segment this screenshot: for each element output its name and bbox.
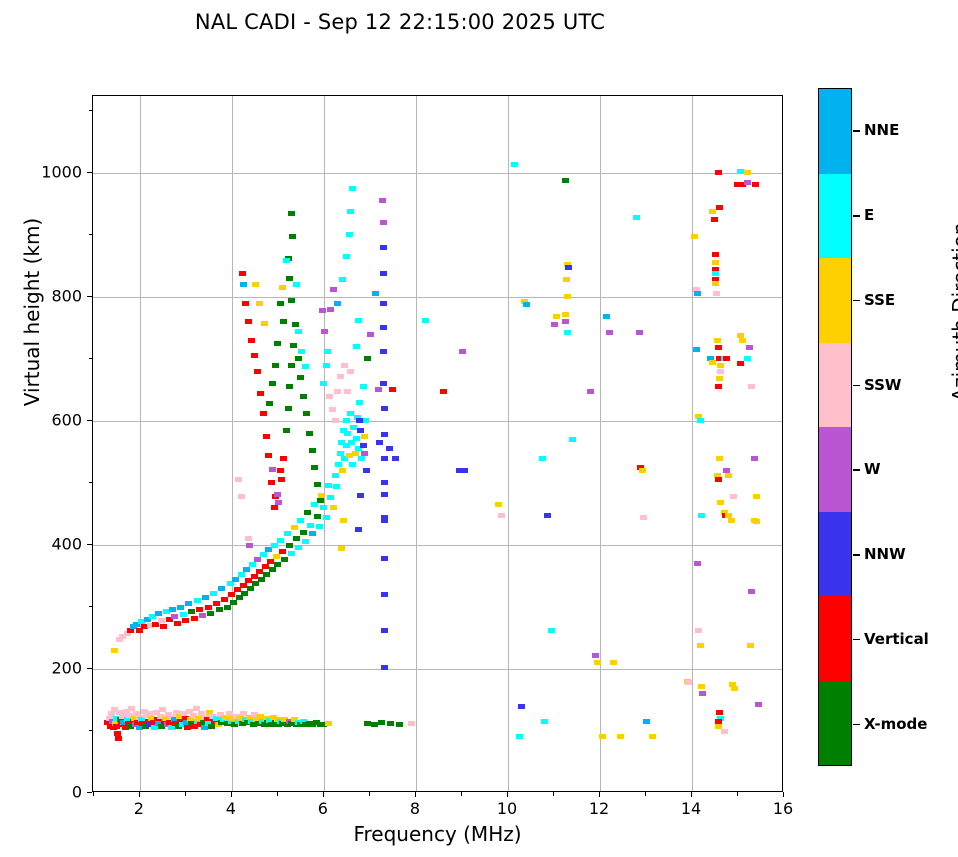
echo-point xyxy=(544,513,551,518)
echo-point xyxy=(562,319,569,324)
x-tick xyxy=(139,792,140,797)
echo-point xyxy=(730,494,737,499)
echo-point xyxy=(224,605,231,610)
echo-point xyxy=(716,376,723,381)
colorbar-label-sse: SSE xyxy=(864,291,895,309)
echo-point xyxy=(357,493,364,498)
echo-point xyxy=(266,401,273,406)
echo-point xyxy=(344,389,351,394)
echo-point xyxy=(252,581,259,586)
y-minor-tick xyxy=(89,110,93,111)
echo-point xyxy=(346,232,353,237)
x-tick xyxy=(783,792,784,797)
echo-point xyxy=(709,209,716,214)
echo-point xyxy=(721,729,728,734)
colorbar-segment-nne xyxy=(819,89,851,174)
echo-point xyxy=(380,271,387,276)
echo-point xyxy=(337,374,344,379)
colorbar-label-x-mode: X-mode xyxy=(864,715,927,733)
echo-point xyxy=(323,515,330,520)
y-tick xyxy=(87,792,92,793)
echo-point xyxy=(715,477,722,482)
echo-point xyxy=(111,648,118,653)
colorbar-segment-e xyxy=(819,174,851,259)
echo-point xyxy=(511,162,518,167)
echo-point xyxy=(260,552,267,557)
echo-point xyxy=(381,456,388,461)
echo-point xyxy=(698,513,705,518)
echo-point xyxy=(274,562,281,567)
echo-point xyxy=(205,605,212,610)
echo-point xyxy=(316,524,323,529)
colorbar-tick xyxy=(853,385,860,387)
echo-point xyxy=(329,407,336,412)
echo-point xyxy=(516,734,523,739)
echo-point xyxy=(210,591,217,596)
x-tick xyxy=(415,792,416,797)
echo-point xyxy=(408,721,415,726)
echo-point xyxy=(697,418,704,423)
echo-point xyxy=(539,456,546,461)
echo-point xyxy=(356,400,363,405)
echo-point xyxy=(216,607,223,612)
y-minor-tick xyxy=(89,730,93,731)
echo-point xyxy=(747,643,754,648)
echo-point xyxy=(268,480,275,485)
echo-point xyxy=(729,682,736,687)
echo-point xyxy=(335,462,342,467)
echo-point xyxy=(218,586,225,591)
echo-point xyxy=(269,567,276,572)
echo-point xyxy=(254,557,261,562)
echo-point xyxy=(347,369,354,374)
y-tick-label: 200 xyxy=(0,659,82,678)
echo-point xyxy=(495,502,502,507)
echo-point xyxy=(295,329,302,334)
y-axis-title: Virtual height (km) xyxy=(20,162,44,462)
echo-point xyxy=(715,345,722,350)
echo-point xyxy=(274,492,281,497)
echo-point xyxy=(389,387,396,392)
x-tick-label: 2 xyxy=(109,799,169,818)
echo-point xyxy=(240,282,247,287)
echo-point xyxy=(715,170,722,175)
echo-point xyxy=(693,347,700,352)
echo-point xyxy=(753,519,760,524)
echo-point xyxy=(357,428,364,433)
echo-point xyxy=(251,574,258,579)
echo-point xyxy=(381,628,388,633)
echo-point xyxy=(381,432,388,437)
x-minor-tick xyxy=(553,792,554,796)
echo-point xyxy=(207,611,214,616)
echo-point xyxy=(380,381,387,386)
echo-point xyxy=(325,721,332,726)
colorbar-label-w: W xyxy=(864,460,881,478)
echo-point xyxy=(213,601,220,606)
echo-point xyxy=(344,431,351,436)
echo-point xyxy=(753,494,760,499)
echo-point xyxy=(358,456,365,461)
echo-point xyxy=(364,356,371,361)
echo-point xyxy=(327,307,334,312)
echo-point xyxy=(319,308,326,313)
echo-point xyxy=(295,545,302,550)
echo-point xyxy=(271,543,278,548)
echo-point xyxy=(380,220,387,225)
echo-point xyxy=(355,318,362,323)
echo-point xyxy=(236,595,243,600)
echo-point xyxy=(291,525,298,530)
echo-point xyxy=(347,209,354,214)
echo-point xyxy=(158,618,165,623)
x-minor-tick xyxy=(277,792,278,796)
echo-point xyxy=(375,387,382,392)
echo-point xyxy=(594,660,601,665)
colorbar-tick xyxy=(853,639,860,641)
echo-point xyxy=(694,291,701,296)
colorbar xyxy=(818,88,852,766)
echo-point xyxy=(115,736,122,741)
echo-point xyxy=(243,567,250,572)
echo-point xyxy=(332,473,339,478)
echo-point xyxy=(712,260,719,265)
echo-point xyxy=(199,613,206,618)
echo-point xyxy=(713,291,720,296)
echo-point xyxy=(284,531,291,536)
colorbar-segment-vertical xyxy=(819,596,851,681)
echo-point xyxy=(249,562,256,567)
y-tick-label: 400 xyxy=(0,535,82,554)
echo-point xyxy=(263,434,270,439)
echo-point xyxy=(227,581,234,586)
x-minor-tick xyxy=(93,792,94,796)
echo-point xyxy=(238,572,245,577)
x-minor-tick xyxy=(737,792,738,796)
echo-point xyxy=(392,456,399,461)
echo-point xyxy=(381,492,388,497)
y-tick xyxy=(87,296,92,297)
x-tick-label: 12 xyxy=(569,799,629,818)
echo-point xyxy=(714,338,721,343)
echo-point xyxy=(160,624,167,629)
echo-point xyxy=(311,465,318,470)
echo-point xyxy=(286,276,293,281)
echo-point xyxy=(262,564,269,569)
echo-point xyxy=(380,349,387,354)
colorbar-title: Azimuth Direction xyxy=(948,152,958,472)
echo-point xyxy=(367,332,374,337)
echo-point xyxy=(744,356,751,361)
echo-point xyxy=(396,722,403,727)
echo-point xyxy=(300,394,307,399)
echo-point xyxy=(297,518,304,523)
echo-point xyxy=(361,434,368,439)
echo-point xyxy=(228,592,235,597)
echo-point xyxy=(355,527,362,532)
echo-point xyxy=(303,411,310,416)
echo-point xyxy=(381,556,388,561)
echo-point xyxy=(285,406,292,411)
echo-point xyxy=(387,721,394,726)
echo-point xyxy=(728,518,735,523)
echo-point xyxy=(380,245,387,250)
x-tick xyxy=(599,792,600,797)
echo-point xyxy=(752,182,759,187)
echo-point xyxy=(422,318,429,323)
echo-point xyxy=(283,258,290,263)
echo-point xyxy=(289,234,296,239)
echo-point xyxy=(617,734,624,739)
echo-point xyxy=(695,628,702,633)
colorbar-segment-w xyxy=(819,427,851,512)
echo-point xyxy=(737,169,744,174)
echo-point xyxy=(746,345,753,350)
echo-point xyxy=(256,569,263,574)
echo-point xyxy=(353,344,360,349)
echo-point xyxy=(603,314,610,319)
echo-point xyxy=(169,607,176,612)
colorbar-segment-sse xyxy=(819,258,851,343)
echo-point xyxy=(349,462,356,467)
echo-point xyxy=(330,287,337,292)
colorbar-label-e: E xyxy=(864,206,874,224)
echo-point xyxy=(360,384,367,389)
echo-point xyxy=(242,301,249,306)
echo-point xyxy=(196,607,203,612)
echo-point xyxy=(523,302,530,307)
echo-point xyxy=(709,360,716,365)
echo-point xyxy=(360,443,367,448)
echo-point xyxy=(171,614,178,619)
x-tick xyxy=(507,792,508,797)
echo-point xyxy=(698,684,705,689)
y-tick xyxy=(87,668,92,669)
echo-point xyxy=(378,720,385,725)
echo-point xyxy=(275,500,282,505)
echo-point xyxy=(324,349,331,354)
echo-point xyxy=(302,364,309,369)
echo-point xyxy=(456,468,463,473)
colorbar-label-vertical: Vertical xyxy=(864,630,929,648)
echo-point xyxy=(381,592,388,597)
echo-point xyxy=(317,498,324,503)
colorbar-label-nne: NNE xyxy=(864,121,899,139)
echo-point xyxy=(744,170,751,175)
echo-point xyxy=(230,600,237,605)
echo-point xyxy=(349,186,356,191)
echo-point xyxy=(636,330,643,335)
echo-point xyxy=(717,500,724,505)
x-axis-title: Frequency (MHz) xyxy=(92,822,783,846)
y-tick xyxy=(87,420,92,421)
echo-point xyxy=(372,291,379,296)
echo-point xyxy=(363,468,370,473)
x-minor-tick xyxy=(461,792,462,796)
echo-point xyxy=(252,282,259,287)
colorbar-segment-x-mode xyxy=(819,681,851,766)
colorbar-tick xyxy=(853,130,860,132)
echo-point xyxy=(716,456,723,461)
echo-point xyxy=(386,446,393,451)
echo-point xyxy=(564,330,571,335)
echo-point xyxy=(239,271,246,276)
echo-point xyxy=(731,686,738,691)
echo-point xyxy=(716,205,723,210)
echo-point xyxy=(699,691,706,696)
colorbar-tick xyxy=(853,724,860,726)
echo-point xyxy=(751,456,758,461)
echo-point xyxy=(261,321,268,326)
colorbar-label-ssw: SSW xyxy=(864,376,901,394)
echo-point xyxy=(723,356,730,361)
echo-point xyxy=(341,363,348,368)
echo-point xyxy=(569,437,576,442)
echo-point xyxy=(155,611,162,616)
echo-point xyxy=(715,384,722,389)
echo-point xyxy=(643,719,650,724)
echo-point xyxy=(691,234,698,239)
echo-point xyxy=(587,389,594,394)
echo-point xyxy=(327,495,334,500)
echo-point xyxy=(381,406,388,411)
echo-point xyxy=(274,341,281,346)
echo-point xyxy=(380,301,387,306)
ionogram-page: NAL CADI - Sep 12 22:15:00 2025 UTC 2468… xyxy=(0,0,958,857)
echo-point xyxy=(263,572,270,577)
x-minor-tick xyxy=(369,792,370,796)
echo-point xyxy=(288,363,295,368)
echo-point xyxy=(498,513,505,518)
echo-point xyxy=(697,643,704,648)
echo-point xyxy=(353,436,360,441)
echo-point xyxy=(300,530,307,535)
echo-point xyxy=(356,418,363,423)
echo-point xyxy=(295,356,302,361)
echo-point xyxy=(240,583,247,588)
echo-point xyxy=(717,363,724,368)
echo-point xyxy=(755,702,762,707)
echo-point xyxy=(716,710,723,715)
echo-point xyxy=(649,734,656,739)
echo-point xyxy=(265,547,272,552)
echo-point xyxy=(633,215,640,220)
echo-point xyxy=(202,595,209,600)
echo-point xyxy=(265,453,272,458)
echo-point xyxy=(548,628,555,633)
echo-point xyxy=(254,369,261,374)
echo-point xyxy=(245,578,252,583)
echo-point xyxy=(323,363,330,368)
page-title: NAL CADI - Sep 12 22:15:00 2025 UTC xyxy=(0,10,800,34)
echo-point xyxy=(348,440,355,445)
x-tick-label: 16 xyxy=(753,799,813,818)
x-minor-tick xyxy=(645,792,646,796)
echo-point xyxy=(177,605,184,610)
echo-point xyxy=(338,546,345,551)
echo-point xyxy=(744,180,751,185)
echo-point xyxy=(562,312,569,317)
echo-point xyxy=(302,539,309,544)
echo-point xyxy=(279,285,286,290)
echo-point xyxy=(188,609,195,614)
x-tick-label: 8 xyxy=(385,799,445,818)
echo-point xyxy=(272,363,279,368)
echo-point xyxy=(737,361,744,366)
y-minor-tick xyxy=(89,482,93,483)
echo-point xyxy=(235,477,242,482)
colorbar-tick xyxy=(853,554,860,556)
echo-point xyxy=(326,394,333,399)
x-tick-label: 4 xyxy=(201,799,261,818)
x-tick xyxy=(691,792,692,797)
echo-point xyxy=(321,329,328,334)
echo-point xyxy=(241,591,248,596)
echo-point xyxy=(640,515,647,520)
echo-point xyxy=(565,265,572,270)
echo-point xyxy=(518,704,525,709)
echo-point xyxy=(314,482,321,487)
echo-point xyxy=(343,418,350,423)
echo-point xyxy=(256,301,263,306)
echo-point xyxy=(290,343,297,348)
echo-point xyxy=(748,589,755,594)
echo-point xyxy=(221,597,228,602)
colorbar-label-nnw: NNW xyxy=(864,545,906,563)
echo-point xyxy=(379,198,386,203)
y-tick xyxy=(87,172,92,173)
echo-point xyxy=(564,294,571,299)
echo-point xyxy=(459,349,466,354)
echo-point xyxy=(304,510,311,515)
colorbar-segment-ssw xyxy=(819,343,851,428)
echo-point xyxy=(297,375,304,380)
y-tick-label: 0 xyxy=(0,783,82,802)
echo-point xyxy=(280,456,287,461)
echo-point xyxy=(639,468,646,473)
echo-point xyxy=(180,612,187,617)
echo-point xyxy=(174,621,181,626)
echo-point xyxy=(269,467,276,472)
echo-point xyxy=(314,514,321,519)
echo-point xyxy=(277,538,284,543)
x-tick-label: 6 xyxy=(293,799,353,818)
echo-point xyxy=(606,330,613,335)
echo-point xyxy=(267,559,274,564)
echo-point xyxy=(288,298,295,303)
echo-point xyxy=(717,369,724,374)
echo-point xyxy=(260,411,267,416)
y-minor-tick xyxy=(89,234,93,235)
echo-point xyxy=(273,554,280,559)
echo-point xyxy=(339,277,346,282)
echo-point xyxy=(340,518,347,523)
x-tick xyxy=(231,792,232,797)
plot-area xyxy=(92,95,783,792)
colorbar-segment-nnw xyxy=(819,512,851,597)
echo-point xyxy=(694,561,701,566)
echo-point xyxy=(257,391,264,396)
echo-point xyxy=(286,384,293,389)
y-tick xyxy=(87,544,92,545)
echo-point xyxy=(381,665,388,670)
echo-point xyxy=(739,338,746,343)
echo-point xyxy=(185,601,192,606)
echo-point xyxy=(562,178,569,183)
echo-point xyxy=(330,505,337,510)
echo-point xyxy=(711,217,718,222)
echo-point xyxy=(293,536,300,541)
